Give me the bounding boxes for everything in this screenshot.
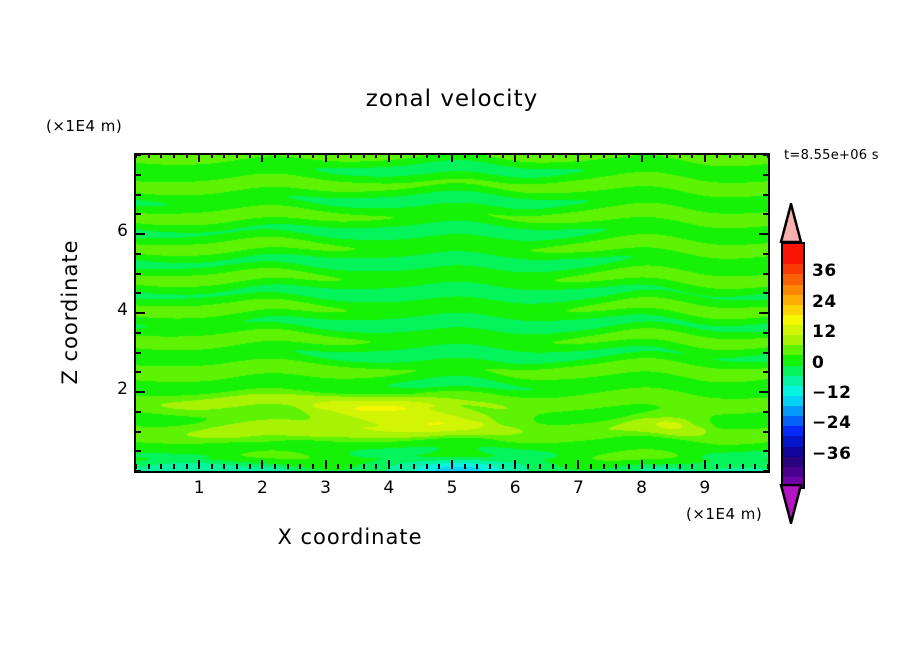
colorbar-band	[783, 457, 803, 467]
colorbar-tick-label: 36	[812, 261, 837, 281]
y-tick-label: 2	[88, 379, 128, 399]
x-tick-label: 8	[622, 478, 662, 498]
colorbar-band	[783, 396, 803, 406]
colorbar-band	[783, 335, 803, 345]
colorbar-band	[783, 355, 803, 365]
colorbar-band	[783, 467, 803, 477]
y-tick-label: 4	[88, 300, 128, 320]
colorbar-overflow-cap-bottom	[779, 484, 803, 524]
y-tick-label: 6	[88, 221, 128, 241]
x-axis-unit-label: (×1E4 m)	[686, 505, 762, 523]
x-tick-label: 3	[306, 478, 346, 498]
colorbar-band	[783, 264, 803, 274]
x-tick-label: 5	[432, 478, 472, 498]
colorbar-band	[783, 315, 803, 325]
contour-plot-area[interactable]	[134, 153, 770, 473]
colorbar-band	[783, 305, 803, 315]
colorbar-band	[783, 366, 803, 376]
time-stamp-label: t=8.55e+06 s	[784, 148, 879, 163]
page-title: zonal velocity	[0, 86, 904, 112]
contour-field-canvas	[136, 155, 768, 471]
colorbar-tick-label: −36	[812, 444, 851, 464]
colorbar-tick-label: 12	[812, 322, 837, 342]
colorbar-band	[783, 416, 803, 426]
colorbar-band	[783, 295, 803, 305]
x-tick-label: 1	[179, 478, 219, 498]
y-axis-unit-label: (×1E4 m)	[46, 117, 122, 135]
x-tick-label: 9	[685, 478, 725, 498]
colorbar-band	[783, 376, 803, 386]
colorbar-band	[783, 325, 803, 335]
colorbar-tick-label: 24	[812, 292, 837, 312]
colorbar-band	[783, 447, 803, 457]
colorbar-band	[783, 345, 803, 355]
y-axis-title: Z coordinate	[58, 212, 82, 412]
colorbar-band	[783, 386, 803, 396]
colorbar-band	[783, 254, 803, 264]
x-tick-label: 4	[369, 478, 409, 498]
colorbar-band	[783, 274, 803, 284]
colorbar-band	[783, 406, 803, 416]
y-axis-tick-labels: 246	[84, 153, 128, 469]
colorbar-tick-label: 0	[812, 353, 824, 373]
colorbar-band	[783, 244, 803, 254]
x-tick-label: 7	[558, 478, 598, 498]
colorbar-band	[783, 436, 803, 446]
colorbar-tick-label: −24	[812, 413, 851, 433]
colorbar-band	[783, 426, 803, 436]
colorbar-band	[783, 285, 803, 295]
colorbar-tick-label: −12	[812, 383, 851, 403]
colorbar[interactable]	[781, 242, 805, 489]
colorbar-overflow-cap-top	[779, 203, 803, 243]
x-tick-label: 6	[495, 478, 535, 498]
x-axis-title: X coordinate	[0, 525, 700, 549]
x-tick-label: 2	[242, 478, 282, 498]
